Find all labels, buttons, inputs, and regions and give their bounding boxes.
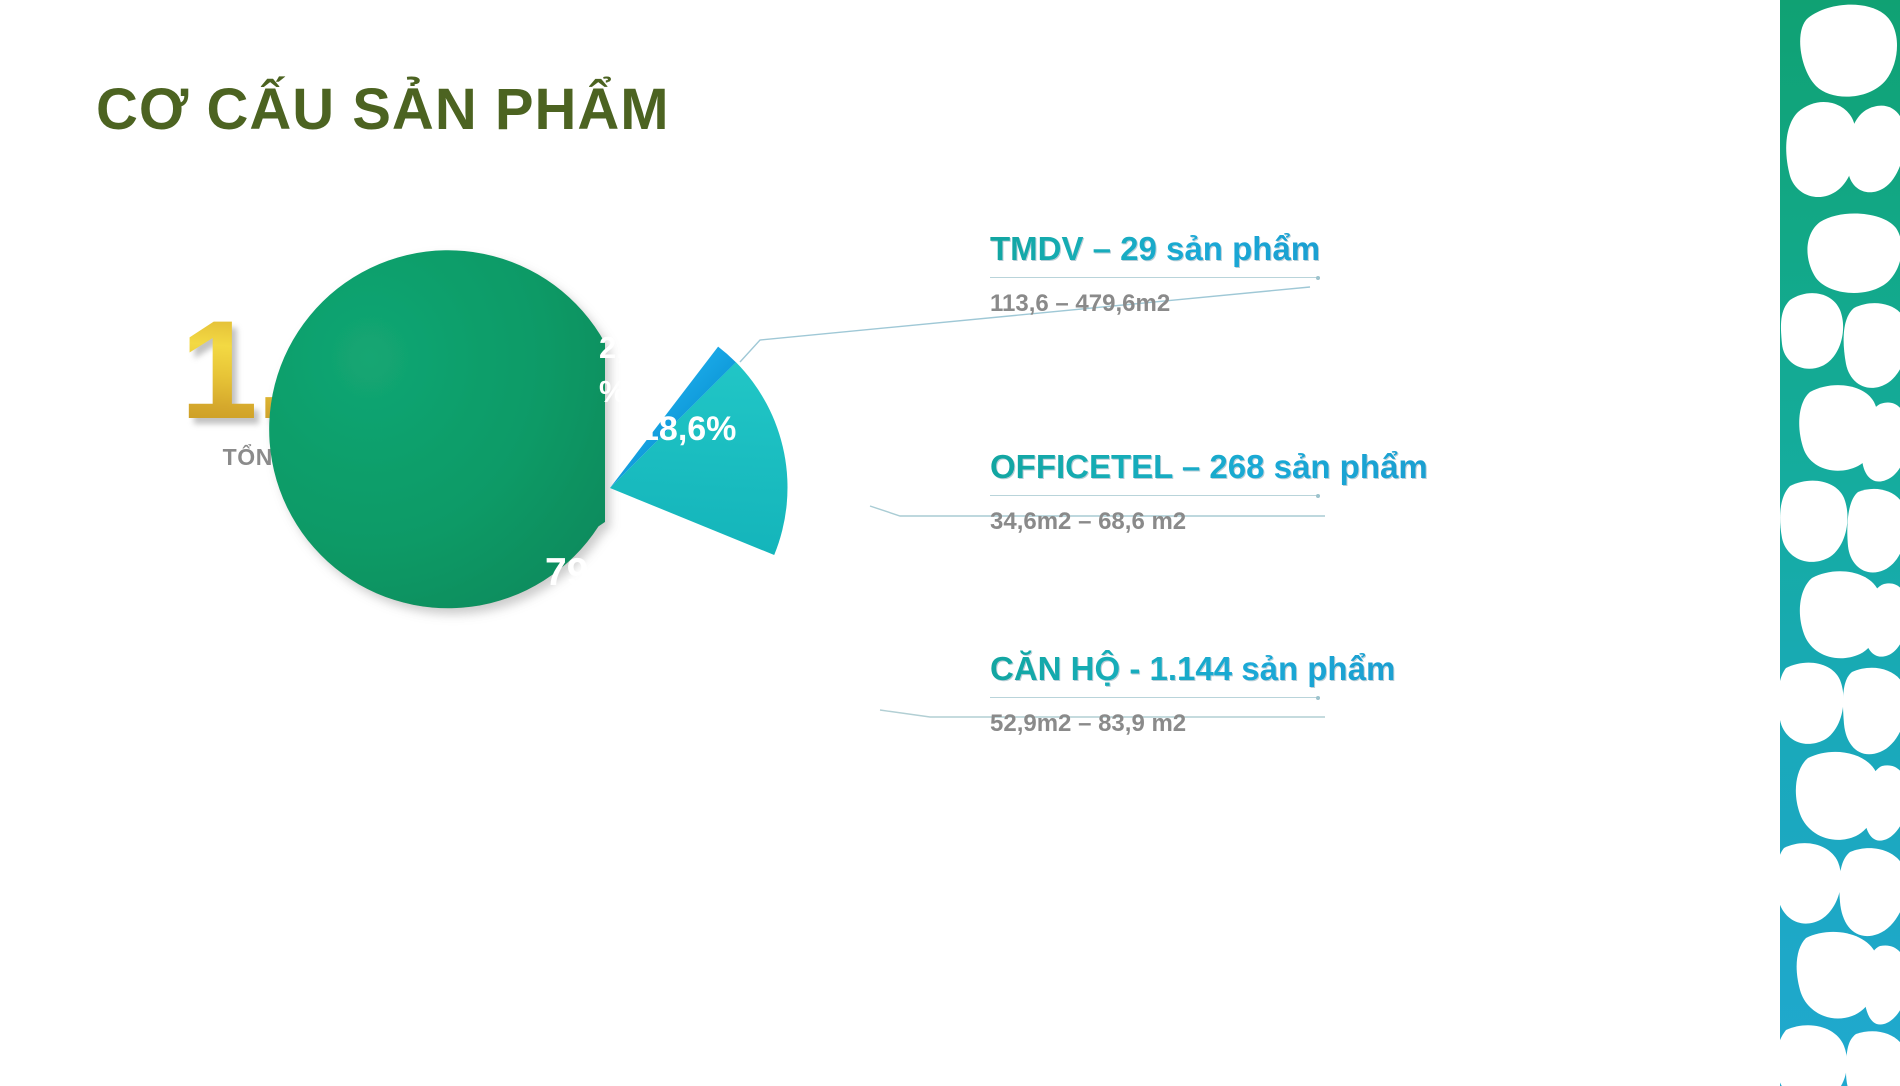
callout-canho[interactable]: CĂN HỘ - 1.144 sản phẩm 52,9m2 – 83,9 m2 [990,650,1395,738]
leader-lines [0,0,1900,1086]
slice-label-tmdv-line2: % [599,374,627,409]
callout-canho-rule [990,697,1320,698]
callout-canho-subtitle: 52,9m2 – 83,9 m2 [990,710,1395,738]
callout-officetel[interactable]: OFFICETEL – 268 sản phẩm 34,6m2 – 68,6 m… [990,448,1428,536]
callout-officetel-rule [990,495,1320,496]
organic-cell-pattern-icon [1780,0,1900,1086]
callout-officetel-title: OFFICETEL – 268 sản phẩm [990,448,1428,486]
slice-label-canho: 79,3% [545,551,656,594]
slice-label-officetel: 18,6% [640,410,736,448]
slice-label-tmdv-line1: 2,1 [599,330,642,365]
callout-tmdv-subtitle: 113,6 – 479,6m2 [990,290,1320,318]
callout-tmdv[interactable]: TMDV – 29 sản phẩm 113,6 – 479,6m2 [990,230,1320,318]
callout-canho-title: CĂN HỘ - 1.144 sản phẩm [990,650,1395,688]
page-title: CƠ CẤU SẢN PHẨM [96,76,670,143]
callout-tmdv-title: TMDV – 29 sản phẩm [990,230,1320,268]
callout-officetel-subtitle: 34,6m2 – 68,6 m2 [990,508,1428,536]
callout-tmdv-rule [990,277,1320,278]
pie-chart: 2,1 % 18,6% 79,3% [500,330,930,760]
